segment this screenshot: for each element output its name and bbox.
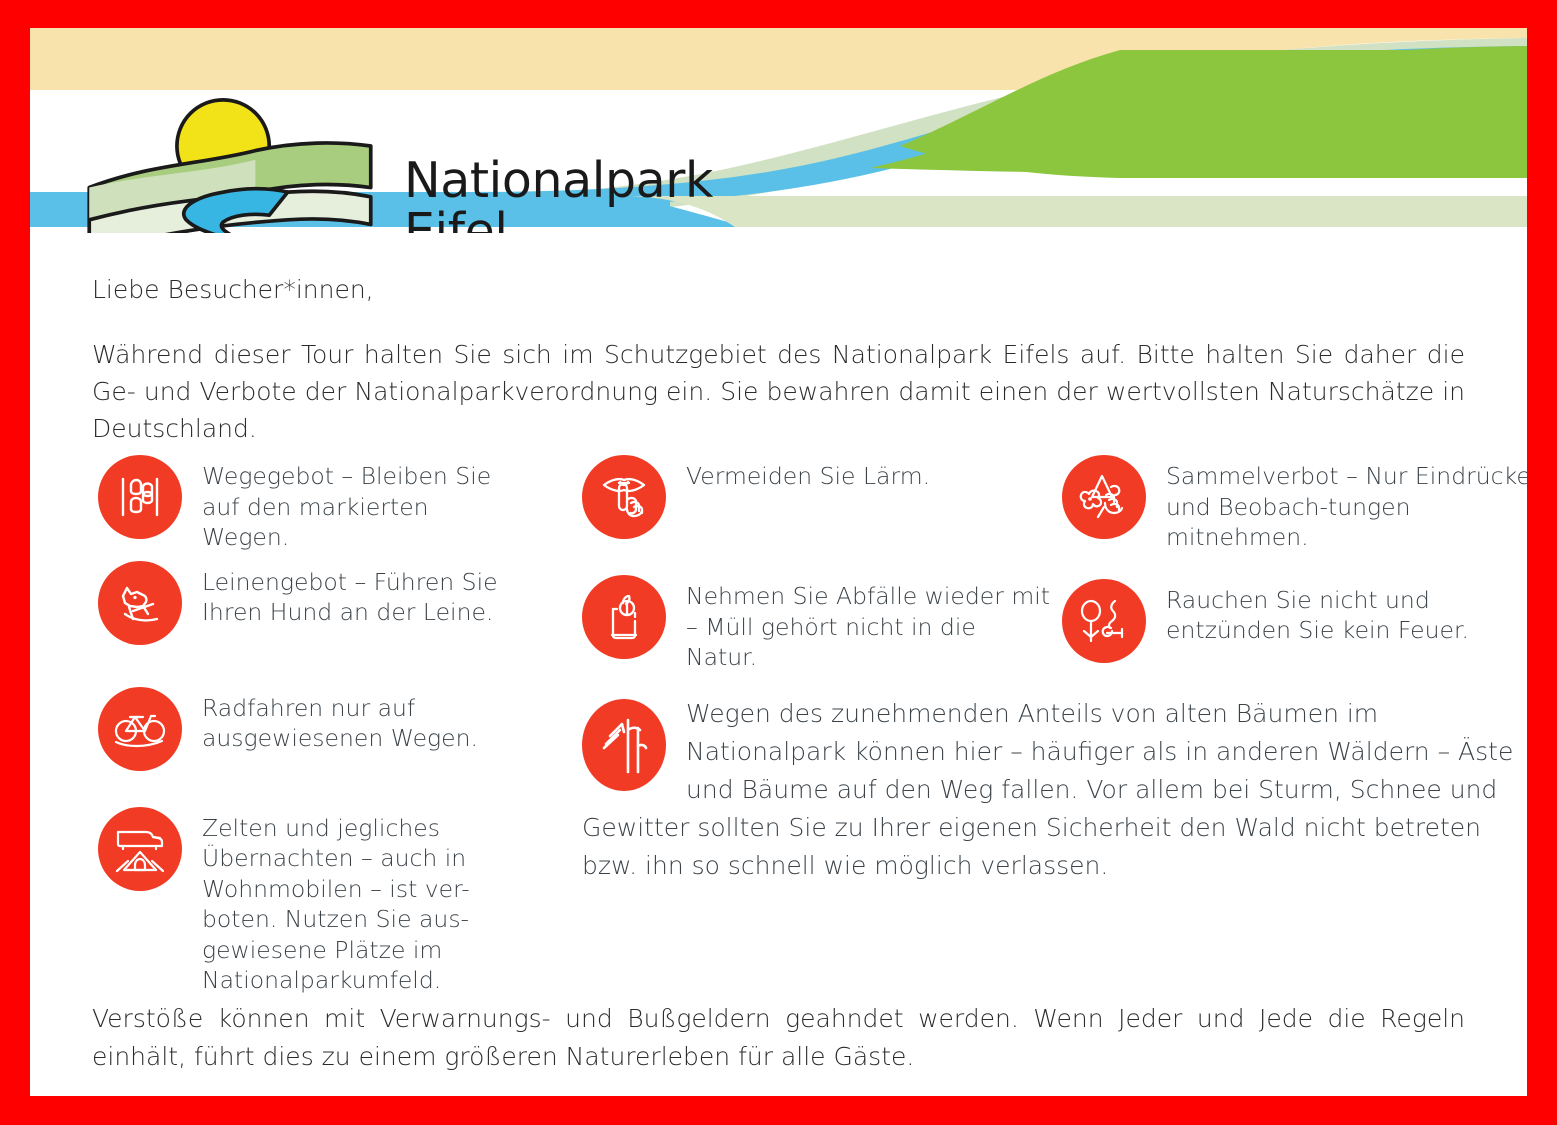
rule-label: Rauchen Sie nicht und entzünden Sie kein…: [1166, 579, 1527, 646]
rule-label: Wegegebot – Bleiben Sie auf den markiert…: [202, 455, 518, 553]
litter-waste-icon: [582, 575, 666, 659]
rules-column-2: Vermeiden Sie Lärm.: [582, 455, 1052, 681]
rule-label: Zelten und jegliches Übernachten – auch …: [202, 807, 518, 996]
rules-column-3: Sammelverbot – Nur Eindrücke und Beobach…: [1062, 455, 1527, 671]
falling-branch-tree-icon: [582, 699, 666, 791]
logo-line-1: Nationalpark: [404, 156, 713, 207]
finger-on-lips-icon: [582, 455, 666, 539]
logo: Nationalpark Eifel: [80, 86, 713, 233]
rule-item: Zelten und jegliches Übernachten – auch …: [98, 807, 518, 996]
rules-column-1: Wegegebot – Bleiben Sie auf den markiert…: [98, 455, 518, 1004]
rule-item: Radfahren nur auf ausgewiesenen Wegen.: [98, 687, 518, 771]
rule-label: Sammelverbot – Nur Eindrücke und Beobach…: [1166, 455, 1527, 553]
logo-line-2: Eifel: [404, 207, 713, 233]
rule-item: Leinengebot – Führen Sie Ihren Hund an d…: [98, 561, 518, 645]
rule-label: Vermeiden Sie Lärm.: [686, 455, 930, 492]
rules-grid: Wegegebot – Bleiben Sie auf den markiert…: [92, 455, 1465, 985]
rule-item: Vermeiden Sie Lärm.: [582, 455, 1052, 539]
rule-item: Sammelverbot – Nur Eindrücke und Beobach…: [1062, 455, 1527, 553]
rule-label: Nehmen Sie Abfälle wieder mit – Müll geh…: [686, 575, 1052, 673]
falling-branch-notice: Wegen des zunehmenden Anteils von alten …: [582, 695, 1527, 885]
footer-paragraph: Verstöße können mit Verwarnungs- und Buß…: [92, 1000, 1465, 1075]
nationalpark-eifel-logo-icon: [80, 86, 380, 233]
rule-item: Wegegebot – Bleiben Sie auf den markiert…: [98, 455, 518, 553]
footprints-icon: [98, 455, 182, 539]
rule-item: Nehmen Sie Abfälle wieder mit – Müll geh…: [582, 575, 1052, 673]
rule-item: Rauchen Sie nicht und entzünden Sie kein…: [1062, 579, 1527, 663]
camper-tent-icon: [98, 807, 182, 891]
intro-paragraph: Während dieser Tour halten Sie sich im S…: [92, 336, 1465, 447]
logo-wordmark: Nationalpark Eifel: [404, 156, 713, 233]
poster-page: Nationalpark Eifel Liebe Besucher*innen,…: [30, 28, 1527, 1096]
content-area: Liebe Besucher*innen, Während dieser Tou…: [30, 275, 1527, 985]
rule-label: Radfahren nur auf ausgewiesenen Wegen.: [202, 687, 518, 754]
greeting-text: Liebe Besucher*innen,: [92, 275, 1465, 304]
header-banner: Nationalpark Eifel: [30, 28, 1527, 233]
bicycle-icon: [98, 687, 182, 771]
picking-flowers-icon: [1062, 455, 1146, 539]
rule-label: Leinengebot – Führen Sie Ihren Hund an d…: [202, 561, 518, 628]
notice-paragraph: Wegen des zunehmenden Anteils von alten …: [582, 695, 1527, 885]
no-smoking-fire-icon: [1062, 579, 1146, 663]
dog-on-leash-icon: [98, 561, 182, 645]
